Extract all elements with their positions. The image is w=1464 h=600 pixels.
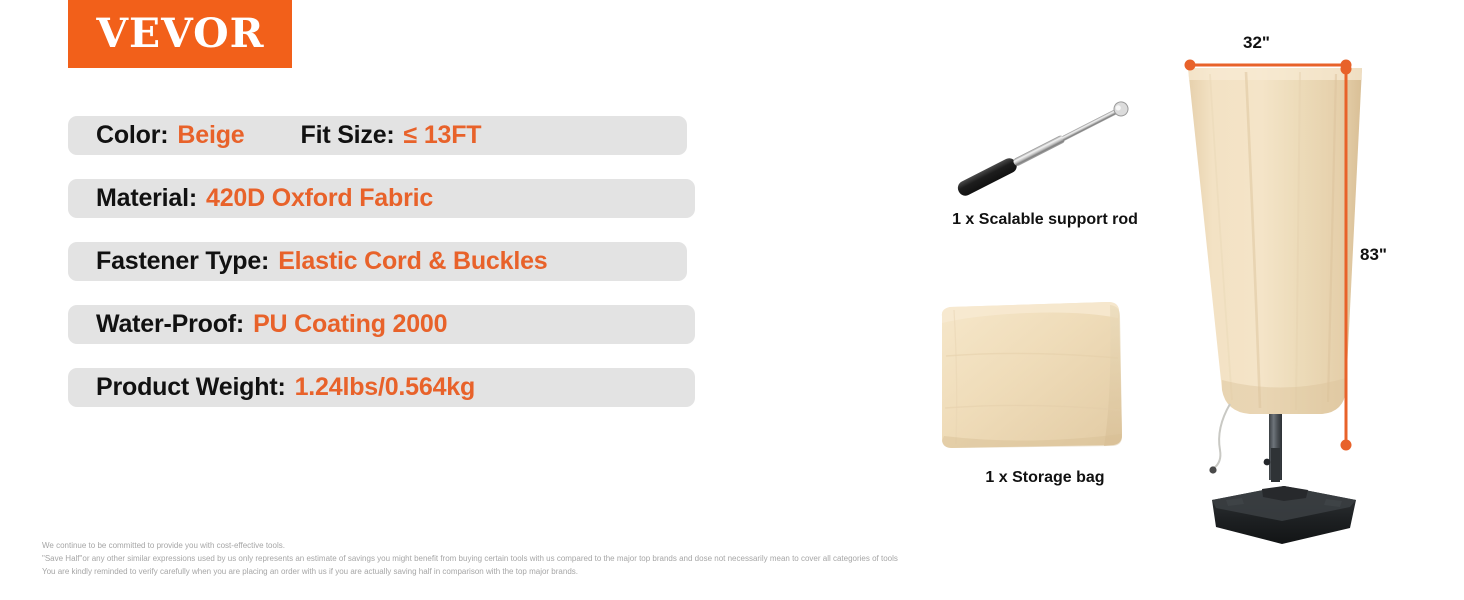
- spec-value-water-proof: PU Coating 2000: [253, 310, 447, 339]
- product-infographic: VEVOR Color: Beige Fit Size: ≤ 13FT Mate…: [0, 0, 1464, 600]
- spec-label-water-proof: Water-Proof:: [96, 310, 244, 339]
- disclaimer-line-3: You are kindly reminded to verify carefu…: [42, 566, 1042, 577]
- spec-row-water-proof: Water-Proof: PU Coating 2000: [68, 305, 695, 344]
- spec-label-color: Color:: [96, 121, 168, 150]
- spec-value-color: Beige: [177, 121, 244, 150]
- height-dimension-line: [1336, 62, 1356, 452]
- spec-row-color: Color: Beige Fit Size: ≤ 13FT: [68, 116, 687, 155]
- spec-label-fit-size: Fit Size:: [301, 121, 395, 150]
- spec-row-fastener-type: Fastener Type: Elastic Cord & Buckles: [68, 242, 687, 281]
- storage-bag-caption: 1 x Storage bag: [930, 469, 1160, 487]
- spec-label-fastener-type: Fastener Type:: [96, 247, 269, 276]
- height-dimension-label: 83": [1360, 245, 1387, 265]
- spec-row-product-weight: Product Weight: 1.24lbs/0.564kg: [68, 368, 695, 407]
- disclaimer-line-2: "Save Half"or any other similar expressi…: [42, 553, 1042, 564]
- spec-value-fastener-type: Elastic Cord & Buckles: [278, 247, 547, 276]
- width-dimension-label: 32": [1243, 33, 1270, 53]
- vevor-logo: VEVOR: [68, 0, 292, 68]
- storage-bag-image: [932, 296, 1144, 456]
- umbrella-cover-image: [1150, 30, 1430, 550]
- width-dimension-line: [1183, 55, 1353, 75]
- support-rod-caption: 1 x Scalable support rod: [930, 211, 1160, 229]
- spec-value-material: 420D Oxford Fabric: [206, 184, 433, 213]
- disclaimer-block: We continue to be committed to provide y…: [42, 540, 1042, 579]
- spec-value-product-weight: 1.24lbs/0.564kg: [295, 373, 475, 402]
- spec-label-material: Material:: [96, 184, 197, 213]
- specification-list: Color: Beige Fit Size: ≤ 13FT Material: …: [68, 116, 695, 431]
- spec-label-product-weight: Product Weight:: [96, 373, 286, 402]
- disclaimer-line-1: We continue to be committed to provide y…: [42, 540, 1042, 551]
- spec-row-material: Material: 420D Oxford Fabric: [68, 179, 695, 218]
- brand-wordmark: VEVOR: [96, 14, 264, 54]
- support-rod-image: [930, 62, 1160, 232]
- spec-value-fit-size: ≤ 13FT: [404, 121, 482, 150]
